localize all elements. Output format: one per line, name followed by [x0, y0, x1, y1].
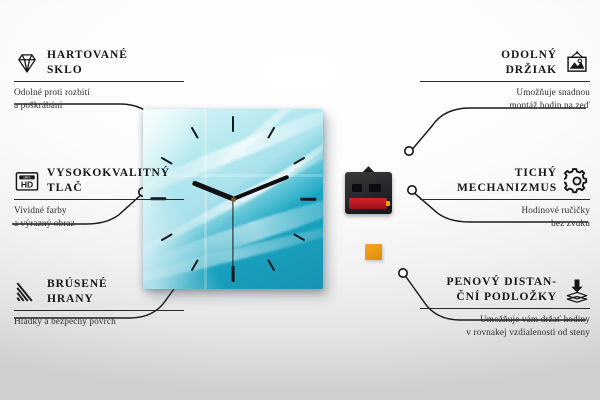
feature-description: Vividné farby a výrazný obraz	[14, 204, 184, 229]
feature-title: TICHÝ MECHANIZMUS	[457, 166, 557, 195]
battery	[349, 198, 387, 209]
feature-silent-mechanism: TICHÝ MECHANIZMUS Hodinové ručičky bez z…	[420, 166, 590, 229]
divider	[420, 81, 590, 82]
divider	[14, 199, 184, 200]
feature-tempered-glass: HARTOVANÉ SKLO Odolné proti rozbití a po…	[14, 48, 184, 111]
gear-icon	[564, 168, 590, 194]
foam-spacer-pad	[365, 244, 382, 260]
stacked-pads-arrow-icon	[564, 277, 590, 303]
feature-description: Hladký a bezpečný povrch	[14, 315, 184, 328]
mechanism-notch-left	[352, 184, 362, 192]
divider	[420, 199, 590, 200]
feature-print-quality: ultra HD VYSOKOKVALITNÝ TLAČ Vividné far…	[14, 166, 184, 229]
feature-description: Hodinové ručičky bez zvuku	[420, 204, 590, 229]
feature-description: Odolné proti rozbití a poškrábání	[14, 86, 184, 111]
diamond-icon	[14, 50, 40, 76]
wire-durable-holder	[410, 108, 586, 152]
feature-ground-edges: BRÚSENÉ HRANY Hladký a bezpečný povrch	[14, 277, 184, 328]
clock-center-cap	[231, 197, 236, 202]
feature-foam-spacers: PENOVÝ DISTAN- ČNÍ PODLOŽKY Umožňuje vám…	[420, 275, 590, 338]
feature-description: Umožňuje snadnou montáž hodin na zeď	[420, 86, 590, 111]
wire-dot-foam-spacers	[399, 269, 407, 277]
feature-description: Umožňuje vám držať hodiny v rovnakej vzd…	[420, 313, 590, 338]
feature-title: BRÚSENÉ HRANY	[47, 277, 108, 306]
feature-title: PENOVÝ DISTAN- ČNÍ PODLOŽKY	[447, 275, 557, 304]
svg-text:HD: HD	[21, 179, 33, 189]
wire-dot-silent-mechanism	[408, 186, 416, 194]
clock-mechanism	[345, 172, 392, 214]
wire-dot-durable-holder	[405, 147, 413, 155]
feature-title: HARTOVANÉ SKLO	[47, 48, 128, 77]
divider	[14, 310, 184, 311]
divider	[14, 81, 184, 82]
mechanism-body	[345, 172, 392, 214]
product-infographic: HARTOVANÉ SKLO Odolné proti rozbití a po…	[0, 0, 600, 400]
framed-picture-hanger-icon	[564, 50, 590, 76]
mechanism-notch-right	[369, 184, 381, 192]
feature-durable-holder: ODOLNÝ DRŽIAK Umožňuje snadnou montáž ho…	[420, 48, 590, 111]
ultra-hd-icon: ultra HD	[14, 168, 40, 194]
feature-title: ODOLNÝ DRŽIAK	[501, 48, 557, 77]
diagonal-stripes-icon	[14, 279, 40, 305]
divider	[420, 308, 590, 309]
feature-title: VYSOKOKVALITNÝ TLAČ	[47, 166, 170, 195]
